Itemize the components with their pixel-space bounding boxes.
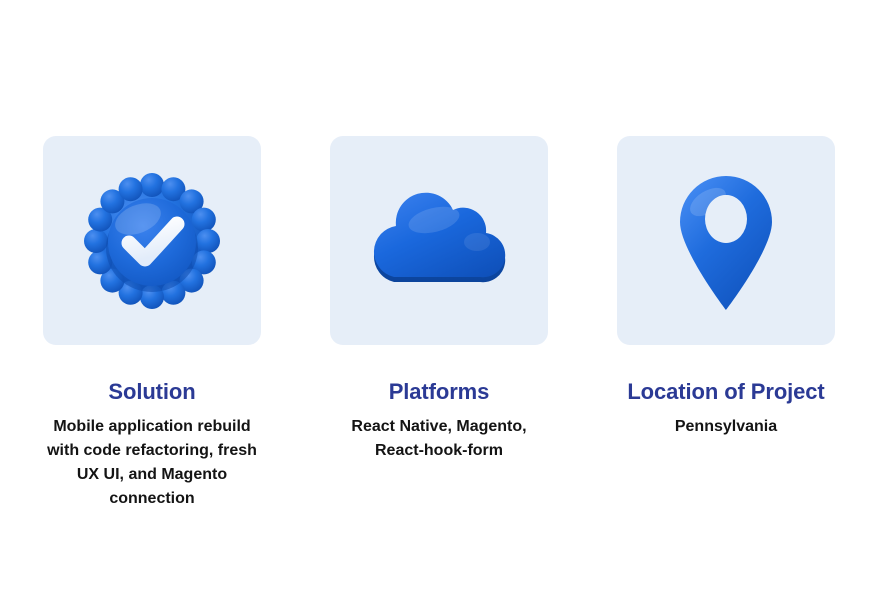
- icon-card-solution: [43, 136, 261, 345]
- column-title: Location of Project: [627, 379, 824, 405]
- summary-column-solution: Solution Mobile application rebuild with…: [43, 136, 261, 511]
- verified-check-badge-icon: [82, 171, 222, 311]
- column-body: Pennsylvania: [631, 415, 821, 439]
- icon-card-platforms: [330, 136, 548, 345]
- column-title: Platforms: [389, 379, 490, 405]
- column-body: Mobile application rebuild with code ref…: [47, 415, 257, 511]
- summary-columns: Solution Mobile application rebuild with…: [43, 136, 835, 511]
- location-pin-icon: [666, 166, 786, 316]
- project-summary-board: Solution Mobile application rebuild with…: [0, 0, 894, 600]
- column-body: React Native, Magento, React-hook-form: [334, 415, 544, 463]
- summary-column-platforms: Platforms React Native, Magento, React-h…: [330, 136, 548, 463]
- icon-card-location: [617, 136, 835, 345]
- cloud-body: [374, 192, 505, 282]
- pin-body: [680, 176, 772, 310]
- cloud-icon: [364, 176, 514, 306]
- column-title: Solution: [108, 379, 195, 405]
- summary-column-location: Location of Project Pennsylvania: [617, 136, 835, 439]
